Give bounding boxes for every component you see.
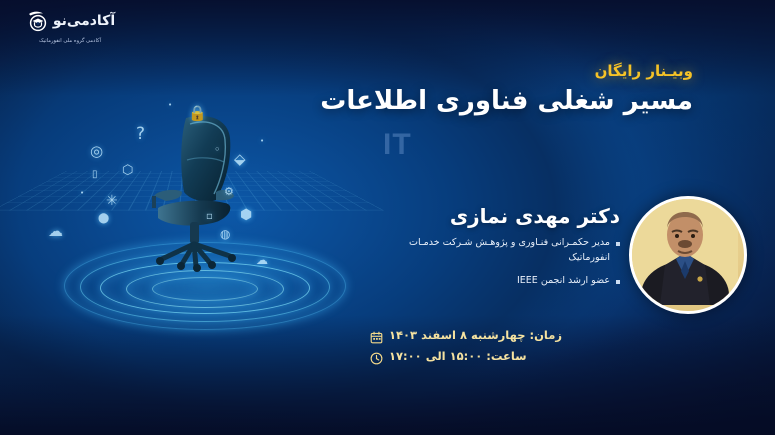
- schedule-date-text: زمان: چهارشنبه ۸ اسفند ۱۴۰۳: [389, 328, 562, 342]
- gear-icon: ⚙: [224, 186, 234, 197]
- list-item: عضو ارشد انجمن IEEE: [370, 274, 620, 289]
- speaker-credentials: مدیر حکمـرانی فنـاوری و پژوهـش شـرکت خدم…: [370, 236, 620, 298]
- lock-icon: 🔒: [188, 106, 207, 121]
- location-pin-icon: ◦: [214, 144, 221, 155]
- webinar-poster: آکادمی‌نو آکادمی گروه ملی انفورماتیک: [0, 0, 775, 435]
- it-watermark: IT: [383, 128, 412, 162]
- logo-lockup: آکادمی‌نو: [14, 6, 126, 36]
- avatar: [629, 196, 747, 314]
- logo-subtitle: آکادمی گروه ملی انفورماتیک: [14, 38, 126, 44]
- chip-icon: ▫: [206, 212, 213, 222]
- brand-logo[interactable]: آکادمی‌نو آکادمی گروه ملی انفورماتیک: [14, 6, 126, 44]
- clock-icon: [370, 350, 383, 363]
- speaker-name: دکتر مهدی نمازی: [450, 204, 620, 228]
- fingerprint-icon: ◎: [90, 144, 103, 159]
- schedule-block: زمان: چهارشنبه ۸ اسفند ۱۴۰۳ ساعت: ۱۵:۰۰ …: [370, 328, 610, 370]
- bulb-icon: ◍: [220, 228, 230, 240]
- eyebrow-free-webinar: وبیـنار رایگان: [595, 62, 693, 80]
- platform-ring: [152, 277, 258, 301]
- chair-graphic: [124, 104, 284, 274]
- calendar-icon: [370, 329, 383, 342]
- asterisk-icon: ✳: [106, 194, 118, 208]
- schedule-date-row: زمان: چهارشنبه ۸ اسفند ۱۴۰۳: [370, 328, 610, 342]
- schedule-time-row: ساعت: ۱۵:۰۰ الی ۱۷:۰۰: [370, 349, 610, 363]
- logo-text: آکادمی‌نو: [53, 13, 115, 29]
- page-title: مسیر شغلی فناوری اطلاعات: [320, 86, 693, 116]
- rocket-icon: ⬙: [234, 152, 246, 167]
- user-icon: ⬤: [98, 214, 109, 224]
- list-item: مدیر حکمـرانی فنـاوری و پژوهـش شـرکت خدم…: [370, 236, 620, 265]
- sparkle-dot-icon: •: [168, 102, 172, 109]
- schedule-time-text: ساعت: ۱۵:۰۰ الی ۱۷:۰۰: [389, 349, 527, 363]
- shield-icon: ⬡: [122, 164, 133, 177]
- cube-icon: ⬢: [240, 208, 252, 222]
- sparkle-dot-icon: •: [80, 190, 84, 197]
- office-chair-illustration: 🔒 ? ◎ ⬡ ✳ ☁ ⬤ ▯ ⬙ ◦ ⚙ ⬢ ◍ ☁ ▫ • • •: [28, 86, 380, 336]
- graduation-cap-icon: [25, 8, 51, 34]
- cloud-icon: ☁: [48, 224, 63, 239]
- sparkle-dot-icon: •: [260, 138, 264, 145]
- question-mark-icon: ?: [136, 126, 145, 143]
- cloud-small-icon: ☁: [256, 254, 268, 266]
- document-icon: ▯: [92, 170, 98, 180]
